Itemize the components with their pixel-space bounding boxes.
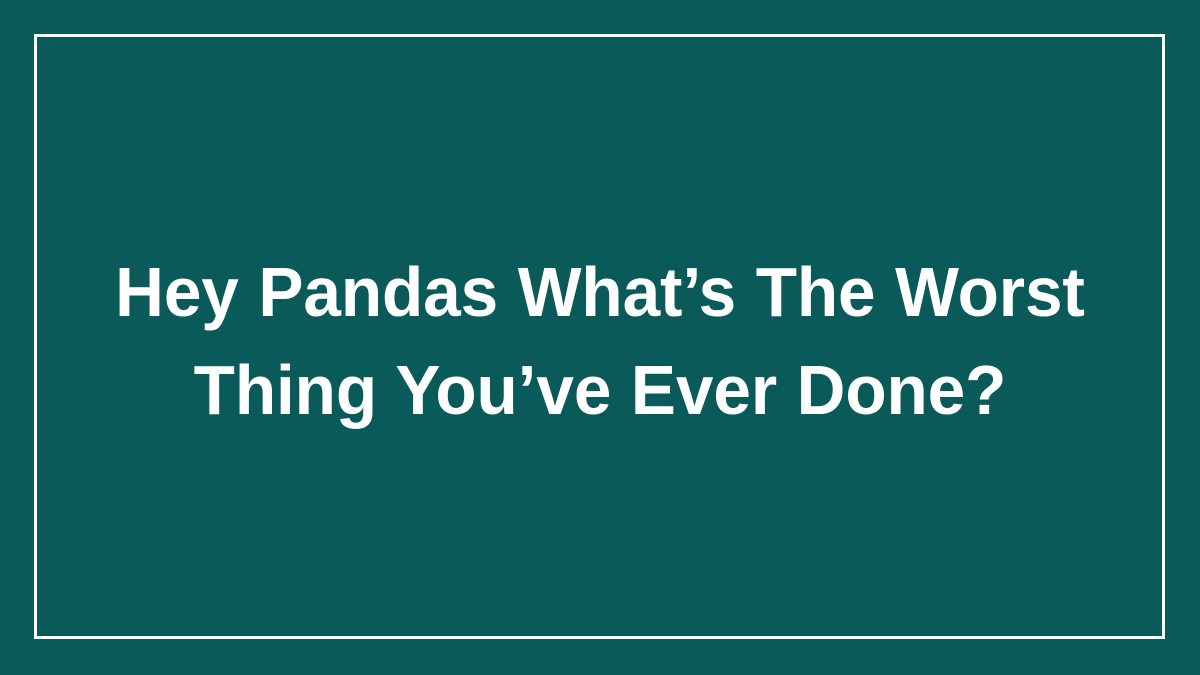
headline-block: Hey Pandas What’s The Worst Thing You’ve… — [0, 0, 1200, 675]
headline-line-1: Hey Pandas What’s The Worst — [79, 243, 1121, 341]
poster-canvas: Hey Pandas What’s The Worst Thing You’ve… — [0, 0, 1200, 675]
headline-line-2: Thing You’ve Ever Done? — [79, 341, 1121, 439]
page-title: Hey Pandas What’s The Worst Thing You’ve… — [21, 243, 1179, 439]
